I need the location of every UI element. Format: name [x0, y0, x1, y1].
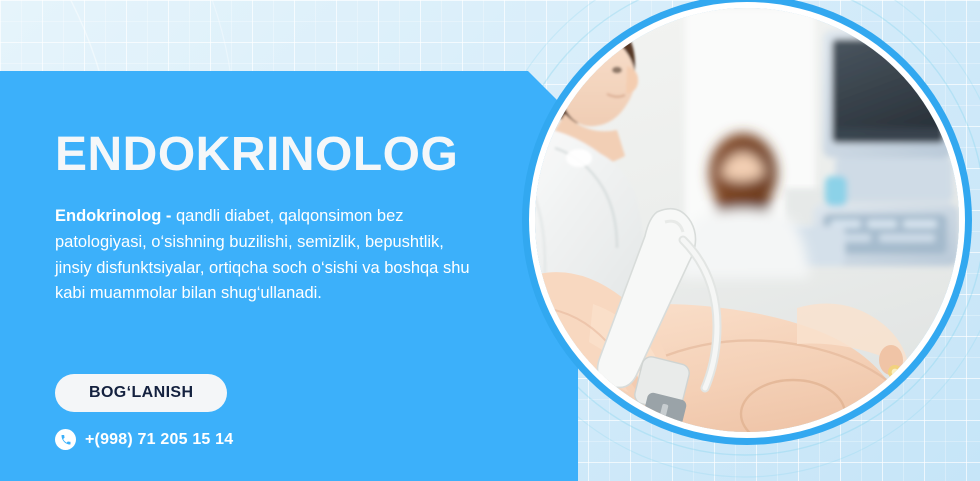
phone-icon — [55, 429, 76, 450]
endocrinologist-promo-banner: ENDOKRINOLOG Endokrinolog - qandli diabe… — [0, 0, 980, 481]
page-title: ENDOKRINOLOG — [55, 130, 525, 180]
contact-button[interactable]: BOG‘LANISH — [55, 374, 227, 412]
phone-row[interactable]: +(998) 71 205 15 14 — [55, 429, 233, 450]
panel-corner-accent — [500, 71, 540, 111]
description-text: Endokrinolog - qandli diabet, qalqonsimo… — [55, 204, 485, 306]
phone-number: +(998) 71 205 15 14 — [85, 431, 233, 449]
description-lead: Endokrinolog - — [55, 207, 176, 225]
panel-text-block: ENDOKRINOLOG Endokrinolog - qandli diabe… — [55, 130, 525, 307]
cta-block: BOG‘LANISH +(998) 71 205 15 14 — [55, 374, 233, 450]
specialist-photo — [535, 8, 959, 432]
